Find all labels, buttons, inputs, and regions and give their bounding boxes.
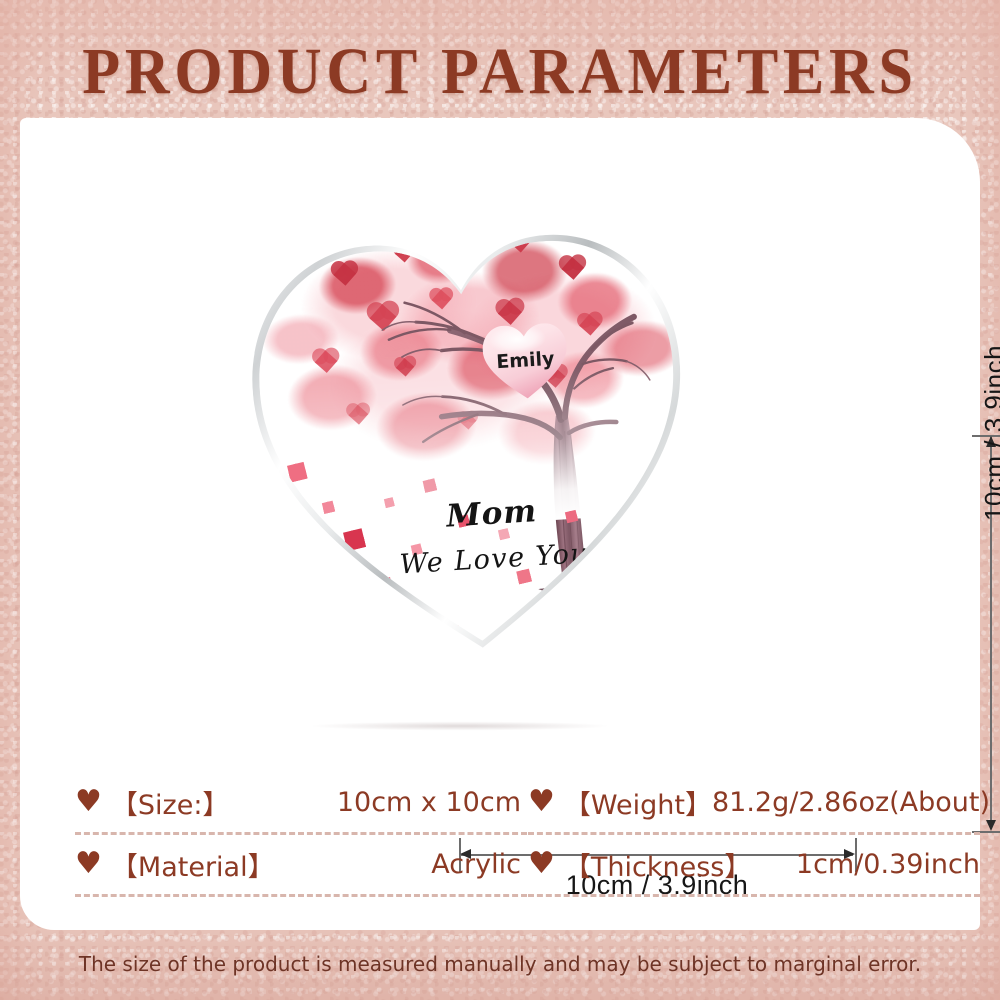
product-image: Mom We Love You Emily 10cm / 3.9inch	[220, 208, 740, 768]
acrylic-heart-plaque: Mom We Love You Emily	[237, 205, 703, 671]
falling-heart	[369, 626, 385, 642]
heart-bullet-icon: ♥	[75, 849, 102, 879]
spec-divider	[528, 894, 980, 897]
height-dimension-label: 10cm / 3.9inch	[979, 301, 1000, 521]
spec-key-material: 【Material】	[111, 845, 275, 884]
spec-value-thickness: 1cm/0.39inch	[796, 849, 980, 880]
spec-value-size: 10cm x 10cm	[337, 787, 527, 818]
spec-value-material: Acrylic	[431, 849, 527, 880]
name-heart-badge: Emily	[480, 319, 571, 402]
falling-heart	[330, 576, 344, 590]
spec-column-right: ♥ 【Weight】 81.2g/2.86oz(About) ♥ 【Thickn…	[528, 773, 980, 897]
spec-row-thickness: ♥ 【Thickness】 1cm/0.39inch	[528, 835, 980, 897]
spec-key-size: 【Size:】	[111, 783, 230, 822]
spec-key-weight: 【Weight】	[564, 783, 712, 822]
heart-bullet-icon: ♥	[528, 849, 555, 879]
spec-value-weight: 81.2g/2.86oz(About)	[712, 787, 990, 818]
spec-row-weight: ♥ 【Weight】 81.2g/2.86oz(About)	[528, 773, 980, 835]
page-title: PRODUCT PARAMETERS	[30, 36, 970, 108]
heart-bullet-icon: ♥	[528, 787, 555, 817]
spec-key-thickness: 【Thickness】	[564, 845, 751, 884]
spec-column-left: ♥ 【Size:】 10cm x 10cm ♥ 【Material】 Acryl…	[75, 773, 527, 897]
content-card: Mom We Love You Emily 10cm / 3.9inch	[20, 118, 980, 930]
spec-row-material: ♥ 【Material】 Acrylic	[75, 835, 527, 897]
specifications-table: ♥ 【Size:】 10cm x 10cm ♥ 【Material】 Acryl…	[40, 773, 1000, 913]
falling-heart	[609, 545, 623, 559]
falling-heart	[289, 530, 307, 548]
heart-bullet-icon: ♥	[75, 787, 102, 817]
plaque-shadow	[260, 720, 660, 732]
footer-note: The size of the product is measured manu…	[0, 952, 1000, 976]
spec-divider	[75, 894, 527, 897]
spec-row-size: ♥ 【Size:】 10cm x 10cm	[75, 773, 527, 835]
